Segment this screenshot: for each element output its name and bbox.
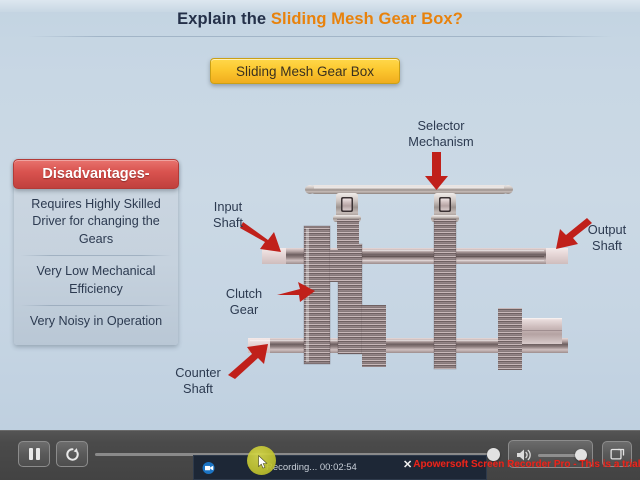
screen-recording-window: Explain the Sliding Mesh Gear Box? Slidi…: [0, 0, 640, 480]
selector-rail: [305, 185, 513, 194]
pause-icon: [29, 448, 40, 460]
label-output-shaft: Output Shaft: [578, 222, 636, 255]
pause-button[interactable]: [18, 441, 50, 467]
label-selector-mechanism: Selector Mechanism: [393, 118, 489, 151]
replay-button[interactable]: [56, 441, 88, 467]
close-icon[interactable]: ✕: [403, 458, 412, 471]
gear-spacer: [330, 250, 339, 282]
camera-icon: [202, 461, 217, 475]
video-stage[interactable]: Explain the Sliding Mesh Gear Box? Slidi…: [0, 0, 640, 430]
trial-watermark-text: Apowersoft Screen Recorder Pro - This is…: [413, 459, 640, 470]
gearbox-illustration: [0, 0, 640, 430]
label-input-shaft: Input Shaft: [198, 199, 258, 232]
counter-gear-right: [498, 308, 562, 370]
arrow-selector-mechanism: [425, 152, 448, 190]
selector-fork-right: [431, 193, 459, 222]
gear-cluster-2: [338, 244, 362, 354]
sliding-gear-left: [337, 219, 359, 249]
selector-fork-left: [333, 193, 361, 222]
label-counter-shaft: Counter Shaft: [161, 365, 235, 398]
label-clutch-gear: Clutch Gear: [213, 286, 275, 319]
counter-gear-mid: [362, 305, 386, 367]
trial-watermark: ✕ Apowersoft Screen Recorder Pro - This …: [403, 458, 640, 471]
recording-status-text: Recording... 00:02:54: [266, 462, 357, 473]
mouse-cursor-icon: [258, 455, 268, 469]
replay-icon: [65, 447, 80, 462]
sliding-gear-right: [434, 219, 456, 369]
